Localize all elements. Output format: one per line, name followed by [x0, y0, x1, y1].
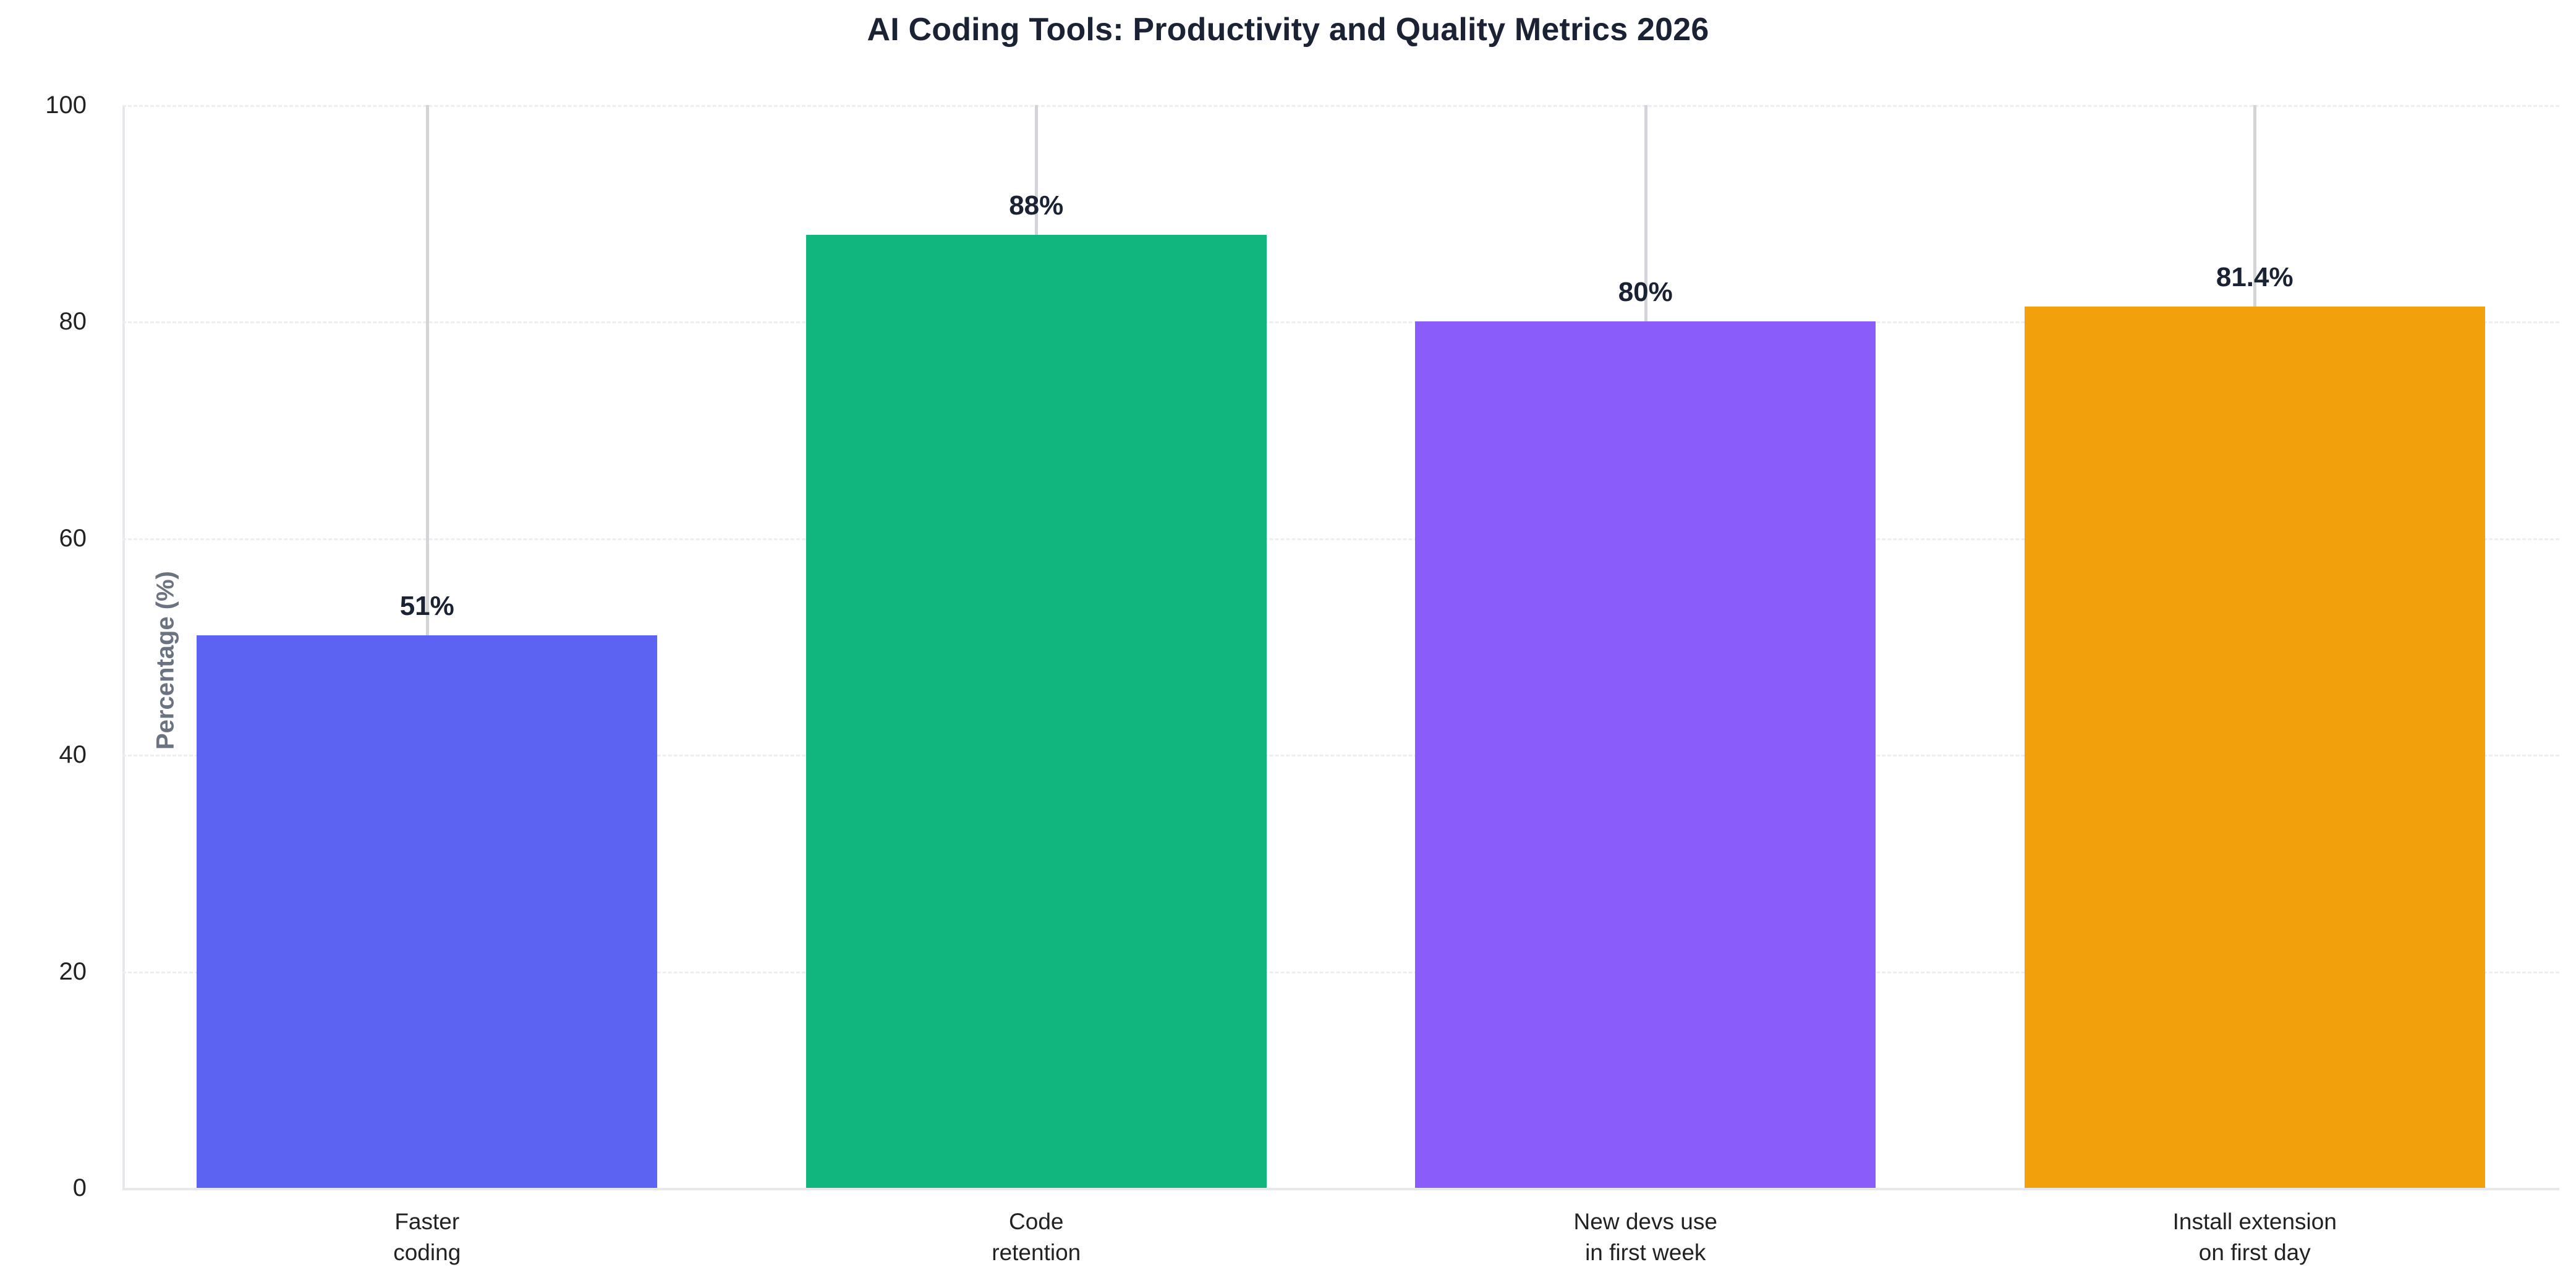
x-tick-line-1: Install extension	[2173, 1206, 2337, 1237]
bar[interactable]	[197, 635, 657, 1188]
bar[interactable]	[806, 235, 1267, 1188]
chart-figure: AI Coding Tools: Productivity and Qualit…	[0, 0, 2576, 1275]
x-tick-line-1: New devs use	[1574, 1206, 1717, 1237]
bar[interactable]	[2025, 307, 2485, 1188]
bar[interactable]	[1415, 321, 1876, 1188]
x-axis-tick-label: New devs usein first week	[1574, 1206, 1717, 1268]
x-axis-spine	[122, 1188, 2559, 1190]
bar-value-label: 88%	[1009, 190, 1063, 221]
x-axis-tick-label: Install extensionon first day	[2173, 1206, 2337, 1268]
plot-area	[122, 105, 2559, 1188]
bar-value-label: 80%	[1618, 277, 1673, 308]
x-axis-tick-label: Coderetention	[992, 1206, 1081, 1268]
x-tick-line-2: on first day	[2173, 1237, 2337, 1268]
bar-value-label: 81.4%	[2216, 262, 2293, 293]
x-tick-line-2: coding	[393, 1237, 461, 1268]
bar-value-label: 51%	[400, 591, 454, 622]
x-tick-line-2: in first week	[1574, 1237, 1717, 1268]
x-tick-line-1: Code	[992, 1206, 1081, 1237]
x-tick-line-1: Faster	[393, 1206, 461, 1237]
x-axis-tick-label: Fastercoding	[393, 1206, 461, 1268]
gridline-horizontal	[122, 105, 2559, 107]
x-tick-line-2: retention	[992, 1237, 1081, 1268]
chart-title: AI Coding Tools: Productivity and Qualit…	[0, 4, 2576, 56]
